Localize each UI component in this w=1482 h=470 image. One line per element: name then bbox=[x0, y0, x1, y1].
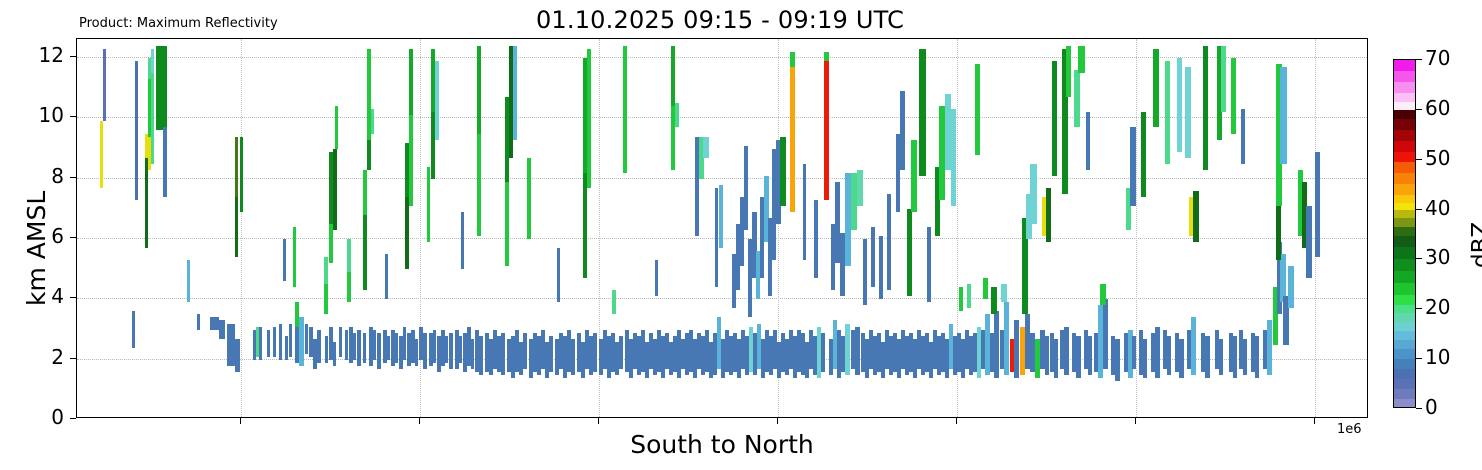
colorbar-band bbox=[1394, 295, 1415, 306]
y-tick-mark bbox=[70, 116, 76, 117]
reflectivity-segment bbox=[959, 287, 963, 311]
reflectivity-column bbox=[289, 38, 292, 417]
reflectivity-column bbox=[1185, 38, 1191, 417]
x-axis-label: South to North bbox=[76, 430, 1368, 459]
reflectivity-segment bbox=[235, 137, 238, 197]
reflectivity-column bbox=[299, 38, 304, 417]
reflectivity-column bbox=[1066, 38, 1071, 417]
reflectivity-segment bbox=[1014, 320, 1019, 377]
reflectivity-column bbox=[871, 38, 875, 417]
reflectivity-segment bbox=[790, 67, 795, 212]
colorbar-band bbox=[1394, 399, 1415, 408]
reflectivity-segment bbox=[1052, 61, 1057, 176]
reflectivity-column bbox=[983, 38, 988, 417]
reflectivity-segment bbox=[1177, 58, 1182, 151]
reflectivity-segment bbox=[1165, 61, 1170, 164]
colorbar-band bbox=[1394, 82, 1415, 94]
colorbar-tick-mark bbox=[1416, 258, 1422, 259]
reflectivity-segment bbox=[1185, 67, 1191, 157]
reflectivity-segment bbox=[703, 137, 709, 158]
reflectivity-segment bbox=[395, 333, 398, 363]
reflectivity-column bbox=[435, 38, 439, 417]
colorbar-band bbox=[1394, 349, 1415, 360]
reflectivity-column bbox=[267, 38, 270, 417]
reflectivity-column bbox=[655, 38, 658, 417]
reflectivity-column bbox=[1177, 38, 1182, 417]
reflectivity-column bbox=[395, 38, 398, 417]
x-tick-mark bbox=[777, 418, 778, 424]
reflectivity-segment bbox=[103, 49, 106, 121]
reflectivity-segment bbox=[240, 137, 243, 212]
reflectivity-segment bbox=[135, 61, 138, 200]
colorbar-band bbox=[1394, 152, 1415, 163]
reflectivity-segment bbox=[409, 115, 413, 205]
reflectivity-segment bbox=[1231, 58, 1236, 133]
colorbar-band bbox=[1394, 173, 1415, 185]
reflectivity-column bbox=[156, 38, 163, 417]
reflectivity-column bbox=[273, 38, 276, 417]
reflectivity-column bbox=[371, 38, 374, 417]
colorbar-tick-label: 60 bbox=[1425, 96, 1450, 120]
reflectivity-segment bbox=[259, 327, 262, 360]
reflectivity-segment bbox=[655, 260, 658, 296]
colorbar-band bbox=[1394, 162, 1415, 174]
reflectivity-column bbox=[1203, 38, 1208, 417]
reflectivity-column bbox=[219, 38, 225, 417]
reflectivity-column bbox=[471, 38, 474, 417]
reflectivity-segment bbox=[324, 257, 328, 284]
reflectivity-column bbox=[1100, 38, 1106, 417]
y-tick-mark bbox=[70, 418, 76, 419]
reflectivity-segment bbox=[163, 127, 167, 196]
reflectivity-column bbox=[549, 38, 553, 417]
reflectivity-segment bbox=[347, 239, 351, 272]
reflectivity-segment bbox=[279, 324, 282, 360]
reflectivity-segment bbox=[879, 236, 883, 299]
reflectivity-segment bbox=[1241, 109, 1245, 163]
reflectivity-column bbox=[385, 38, 388, 417]
colorbar bbox=[1393, 59, 1416, 408]
reflectivity-column bbox=[715, 38, 718, 417]
reflectivity-column bbox=[335, 38, 338, 417]
reflectivity-column bbox=[317, 38, 321, 417]
reflectivity-column bbox=[377, 38, 381, 417]
colorbar-band bbox=[1394, 130, 1415, 142]
reflectivity-column bbox=[675, 38, 679, 417]
colorbar-tick-mark bbox=[1416, 308, 1422, 309]
reflectivity-column bbox=[357, 38, 361, 417]
reflectivity-segment bbox=[1153, 49, 1159, 127]
colorbar-band bbox=[1394, 379, 1415, 390]
reflectivity-column bbox=[227, 38, 235, 417]
reflectivity-segment bbox=[210, 317, 219, 329]
x-tick-mark bbox=[1314, 418, 1315, 424]
colorbar-band bbox=[1394, 271, 1415, 284]
reflectivity-segment bbox=[1030, 164, 1037, 224]
colorbar-band bbox=[1394, 259, 1415, 272]
reflectivity-column bbox=[814, 38, 818, 417]
reflectivity-column bbox=[324, 38, 328, 417]
reflectivity-segment bbox=[612, 290, 616, 314]
reflectivity-segment bbox=[427, 167, 430, 242]
reflectivity-column bbox=[259, 38, 262, 417]
reflectivity-segment bbox=[527, 158, 531, 239]
product-label: Product: Maximum Reflectivity bbox=[79, 16, 278, 31]
reflectivity-column bbox=[803, 38, 806, 417]
reflectivity-column bbox=[461, 38, 464, 417]
reflectivity-segment bbox=[975, 64, 980, 154]
reflectivity-segment bbox=[587, 49, 591, 188]
reflectivity-column bbox=[571, 38, 575, 417]
reflectivity-segment bbox=[409, 49, 413, 115]
reflectivity-column bbox=[477, 38, 481, 417]
reflectivity-segment bbox=[983, 278, 988, 299]
reflectivity-segment bbox=[863, 239, 867, 305]
colorbar-tick-label: 0 bbox=[1425, 395, 1438, 419]
reflectivity-column bbox=[1315, 38, 1320, 417]
reflectivity-segment bbox=[513, 46, 517, 139]
reflectivity-column bbox=[427, 38, 430, 417]
reflectivity-column bbox=[1288, 38, 1294, 417]
reflectivity-segment bbox=[471, 339, 474, 369]
reflectivity-segment bbox=[197, 314, 200, 329]
reflectivity-segment bbox=[967, 284, 971, 308]
reflectivity-segment bbox=[227, 324, 235, 366]
reflectivity-column bbox=[283, 38, 286, 417]
reflectivity-segment bbox=[445, 336, 448, 363]
reflectivity-segment bbox=[715, 188, 718, 288]
reflectivity-column bbox=[235, 38, 238, 417]
reflectivity-column bbox=[1030, 38, 1037, 417]
colorbar-band bbox=[1394, 359, 1415, 370]
reflectivity-segment bbox=[887, 194, 891, 291]
reflectivity-column bbox=[1165, 38, 1170, 417]
reflectivity-segment bbox=[163, 46, 167, 127]
reflectivity-column bbox=[210, 38, 219, 417]
reflectivity-column bbox=[593, 38, 597, 417]
reflectivity-column bbox=[103, 38, 106, 417]
colorbar-band bbox=[1394, 71, 1415, 83]
reflectivity-column bbox=[449, 38, 453, 417]
reflectivity-segment bbox=[324, 284, 328, 314]
colorbar-tick-mark bbox=[1416, 109, 1422, 110]
radar-reflectivity-figure: 01.10.2025 09:15 - 09:19 UTC Product: Ma… bbox=[0, 0, 1482, 470]
reflectivity-column bbox=[790, 38, 795, 417]
reflectivity-segment bbox=[1066, 46, 1071, 97]
x-tick-mark bbox=[1135, 418, 1136, 424]
reflectivity-segment bbox=[1141, 112, 1146, 196]
reflectivity-column bbox=[879, 38, 883, 417]
reflectivity-column bbox=[967, 38, 971, 417]
colorbar-band bbox=[1394, 227, 1415, 238]
reflectivity-segment bbox=[675, 103, 679, 127]
reflectivity-column bbox=[240, 38, 243, 417]
reflectivity-column bbox=[1086, 38, 1090, 417]
reflectivity-segment bbox=[339, 327, 342, 357]
reflectivity-segment bbox=[1267, 320, 1272, 374]
reflectivity-segment bbox=[803, 164, 806, 261]
reflectivity-segment bbox=[477, 134, 481, 237]
reflectivity-column bbox=[703, 38, 709, 417]
x-tick-mark bbox=[956, 418, 957, 424]
colorbar-tick-label: 30 bbox=[1425, 245, 1450, 269]
reflectivity-column bbox=[513, 38, 517, 417]
reflectivity-segment bbox=[461, 212, 464, 269]
reflectivity-segment bbox=[267, 330, 270, 357]
colorbar-tick-mark bbox=[1416, 59, 1422, 60]
reflectivity-segment bbox=[317, 330, 321, 363]
reflectivity-segment bbox=[814, 200, 818, 278]
reflectivity-column bbox=[951, 38, 956, 417]
reflectivity-segment bbox=[1203, 46, 1208, 170]
reflectivity-segment bbox=[235, 197, 238, 257]
reflectivity-segment bbox=[187, 260, 190, 302]
reflectivity-segment bbox=[1115, 339, 1120, 381]
reflectivity-column bbox=[163, 38, 167, 417]
reflectivity-segment bbox=[719, 185, 723, 248]
reflectivity-column bbox=[1052, 38, 1057, 417]
colorbar-band bbox=[1394, 236, 1415, 248]
reflectivity-column bbox=[1306, 38, 1312, 417]
y-axis-label: km AMSL bbox=[22, 191, 51, 306]
reflectivity-segment bbox=[273, 327, 276, 357]
reflectivity-segment bbox=[347, 272, 351, 302]
reflectivity-segment bbox=[1280, 67, 1287, 164]
colorbar-band bbox=[1394, 247, 1415, 260]
reflectivity-segment bbox=[1255, 336, 1259, 378]
colorbar-tick-label: 10 bbox=[1425, 345, 1450, 369]
reflectivity-column bbox=[991, 38, 997, 417]
reflectivity-column bbox=[1153, 38, 1159, 417]
reflectivity-column bbox=[305, 38, 308, 417]
reflectivity-column bbox=[187, 38, 190, 417]
y-tick-mark bbox=[70, 297, 76, 298]
gridline-vertical bbox=[1136, 39, 1137, 417]
reflectivity-segment bbox=[593, 333, 597, 372]
reflectivity-segment bbox=[293, 227, 296, 287]
reflectivity-segment bbox=[156, 46, 163, 130]
reflectivity-segment bbox=[377, 333, 381, 369]
reflectivity-segment bbox=[1315, 152, 1320, 258]
reflectivity-column bbox=[719, 38, 723, 417]
reflectivity-segment bbox=[623, 46, 627, 173]
colorbar-band bbox=[1394, 389, 1415, 400]
reflectivity-segment bbox=[571, 339, 575, 375]
colorbar-band bbox=[1394, 184, 1415, 196]
reflectivity-segment bbox=[1193, 191, 1199, 242]
reflectivity-segment bbox=[415, 339, 418, 366]
colorbar-band bbox=[1394, 141, 1415, 153]
y-tick-label: 12 bbox=[0, 43, 64, 67]
reflectivity-column bbox=[1193, 38, 1199, 417]
reflectivity-column bbox=[445, 38, 448, 417]
y-tick-label: 0 bbox=[0, 405, 64, 429]
reflectivity-segment bbox=[435, 61, 439, 139]
reflectivity-column bbox=[612, 38, 616, 417]
colorbar-band bbox=[1394, 119, 1415, 131]
reflectivity-segment bbox=[219, 320, 225, 338]
reflectivity-segment bbox=[305, 324, 308, 354]
colorbar-band bbox=[1394, 60, 1415, 72]
reflectivity-column bbox=[1255, 38, 1259, 417]
colorbar-tick-mark bbox=[1416, 209, 1422, 210]
reflectivity-column bbox=[1221, 38, 1226, 417]
colorbar-band bbox=[1394, 369, 1415, 380]
reflectivity-column bbox=[415, 38, 418, 417]
y-tick-mark bbox=[70, 237, 76, 238]
reflectivity-segment bbox=[385, 254, 388, 299]
reflectivity-segment bbox=[477, 46, 481, 133]
reflectivity-segment bbox=[151, 73, 154, 163]
colorbar-tick-label: 70 bbox=[1425, 46, 1450, 70]
reflectivity-column bbox=[1280, 38, 1287, 417]
y-tick-mark bbox=[70, 177, 76, 178]
colorbar-tick-label: 20 bbox=[1425, 295, 1450, 319]
reflectivity-segment bbox=[927, 227, 931, 302]
colorbar-tick-label: 40 bbox=[1425, 196, 1450, 220]
reflectivity-segment bbox=[1100, 284, 1106, 305]
y-tick-label: 2 bbox=[0, 345, 64, 369]
reflectivity-segment bbox=[357, 330, 361, 366]
reflectivity-segment bbox=[289, 324, 292, 357]
reflectivity-column bbox=[353, 38, 356, 417]
reflectivity-column bbox=[975, 38, 980, 417]
y-tick-mark bbox=[70, 56, 76, 57]
reflectivity-segment bbox=[1001, 284, 1007, 302]
reflectivity-column bbox=[863, 38, 867, 417]
reflectivity-segment bbox=[871, 227, 875, 287]
reflectivity-segment bbox=[557, 248, 560, 302]
colorbar-tick-mark bbox=[1416, 408, 1422, 409]
reflectivity-column bbox=[1267, 38, 1272, 417]
reflectivity-segment bbox=[1221, 46, 1226, 112]
reflectivity-segment bbox=[449, 333, 453, 369]
reflectivity-column bbox=[339, 38, 342, 417]
colorbar-tick-label: 50 bbox=[1425, 146, 1450, 170]
reflectivity-segment bbox=[283, 239, 286, 281]
x-tick-mark bbox=[419, 418, 420, 424]
colorbar-tick-mark bbox=[1416, 159, 1422, 160]
reflectivity-segment bbox=[1086, 112, 1090, 169]
reflectivity-segment bbox=[991, 287, 997, 314]
reflectivity-segment bbox=[299, 317, 304, 365]
reflectivity-column bbox=[587, 38, 591, 417]
reflectivity-segment bbox=[1130, 127, 1136, 205]
reflectivity-column bbox=[293, 38, 296, 417]
reflectivity-column bbox=[1241, 38, 1245, 417]
reflectivity-column bbox=[409, 38, 413, 417]
reflectivity-column bbox=[959, 38, 963, 417]
reflectivity-segment bbox=[151, 49, 154, 73]
y-tick-label: 8 bbox=[0, 164, 64, 188]
reflectivity-column bbox=[279, 38, 282, 417]
y-tick-label: 10 bbox=[0, 103, 64, 127]
colorbar-label: dBZ bbox=[1468, 221, 1482, 267]
x-axis-offset-text: 1e6 bbox=[1337, 422, 1362, 437]
reflectivity-column bbox=[1141, 38, 1146, 417]
reflectivity-column bbox=[135, 38, 138, 417]
reflectivity-column bbox=[927, 38, 931, 417]
reflectivity-segment bbox=[335, 106, 338, 148]
x-tick-mark bbox=[598, 418, 599, 424]
reflectivity-column bbox=[527, 38, 531, 417]
colorbar-tick-mark bbox=[1416, 358, 1422, 359]
reflectivity-segment bbox=[549, 336, 553, 372]
reflectivity-column bbox=[1231, 38, 1236, 417]
reflectivity-segment bbox=[1306, 206, 1312, 278]
reflectivity-column bbox=[1001, 38, 1007, 417]
colorbar-band bbox=[1394, 283, 1415, 296]
reflectivity-column bbox=[1115, 38, 1120, 417]
reflectivity-segment bbox=[1288, 266, 1294, 308]
reflectivity-column bbox=[557, 38, 560, 417]
reflectivity-column bbox=[347, 38, 351, 417]
reflectivity-column bbox=[151, 38, 154, 417]
reflectivity-column bbox=[197, 38, 200, 417]
reflectivity-column bbox=[887, 38, 891, 417]
reflectivity-segment bbox=[353, 333, 356, 360]
y-tick-mark bbox=[70, 358, 76, 359]
reflectivity-column bbox=[1014, 38, 1019, 417]
reflectivity-column bbox=[1130, 38, 1136, 417]
reflectivity-segment bbox=[371, 109, 374, 133]
reflectivity-column bbox=[623, 38, 627, 417]
reflectivity-segment bbox=[951, 109, 956, 206]
x-tick-mark bbox=[240, 418, 241, 424]
reflectivity-segment bbox=[790, 52, 795, 67]
plot-area bbox=[76, 38, 1368, 418]
